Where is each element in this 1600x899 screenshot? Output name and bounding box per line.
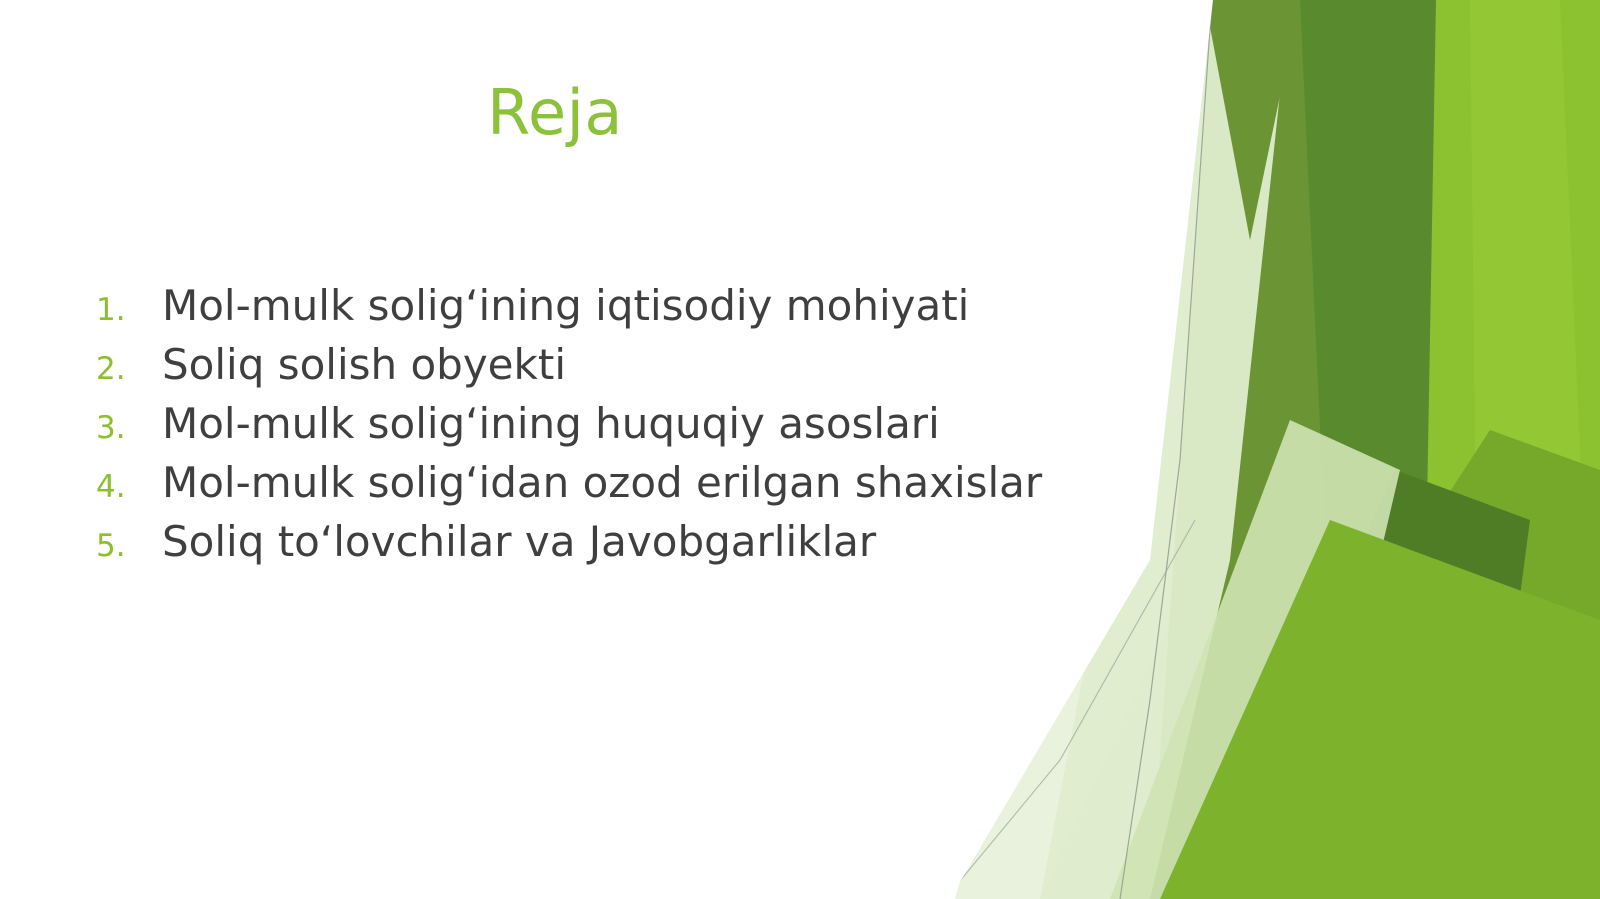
- pale-sliver-lower: [1110, 420, 1400, 899]
- deep-facet-top: [1300, 0, 1470, 640]
- agenda-list: 1. Mol-mulk solig‘ining iqtisodiy mohiya…: [96, 282, 1146, 577]
- dark-wedge-bottom: [1200, 470, 1530, 899]
- dark-facet-top: [1150, 0, 1500, 899]
- list-item: 4. Mol-mulk solig‘idan ozod erilgan shax…: [96, 459, 1146, 506]
- list-item-number: 3.: [96, 413, 162, 444]
- dark-corner-accent: [1205, 0, 1300, 240]
- list-item: 3. Mol-mulk solig‘ining huquqiy asoslari: [96, 400, 1146, 447]
- page-title: Reja: [0, 80, 1110, 145]
- list-item: 2. Soliq solish obyekti: [96, 341, 1146, 388]
- list-item-number: 4.: [96, 472, 162, 503]
- list-item-label: Mol-mulk solig‘idan ozod erilgan shaxisl…: [162, 459, 1146, 506]
- list-item-label: Soliq solish obyekti: [162, 341, 1146, 388]
- bright-band-right: [1420, 0, 1600, 899]
- list-item-number: 1.: [96, 295, 162, 326]
- list-item-number: 2.: [96, 354, 162, 385]
- list-item-number: 5.: [96, 531, 162, 562]
- mid-green-diagonal: [1185, 430, 1600, 899]
- left-wedge-shape: [0, 527, 56, 899]
- list-item-label: Mol-mulk solig‘ining huquqiy asoslari: [162, 400, 1146, 447]
- bright-diagonal-bottom: [1160, 520, 1600, 899]
- list-item: 5. Soliq to‘lovchilar va Javobgarliklar: [96, 518, 1146, 565]
- list-item-label: Mol-mulk solig‘ining iqtisodiy mohiyati: [162, 282, 1146, 329]
- slide-canvas: Reja 1. Mol-mulk solig‘ining iqtisodiy m…: [0, 0, 1600, 899]
- list-item-label: Soliq to‘lovchilar va Javobgarliklar: [162, 518, 1146, 565]
- list-item: 1. Mol-mulk solig‘ining iqtisodiy mohiya…: [96, 282, 1146, 329]
- mid-green-diagonal-lower: [1215, 560, 1600, 899]
- bright-band-right-inner: [1470, 0, 1600, 899]
